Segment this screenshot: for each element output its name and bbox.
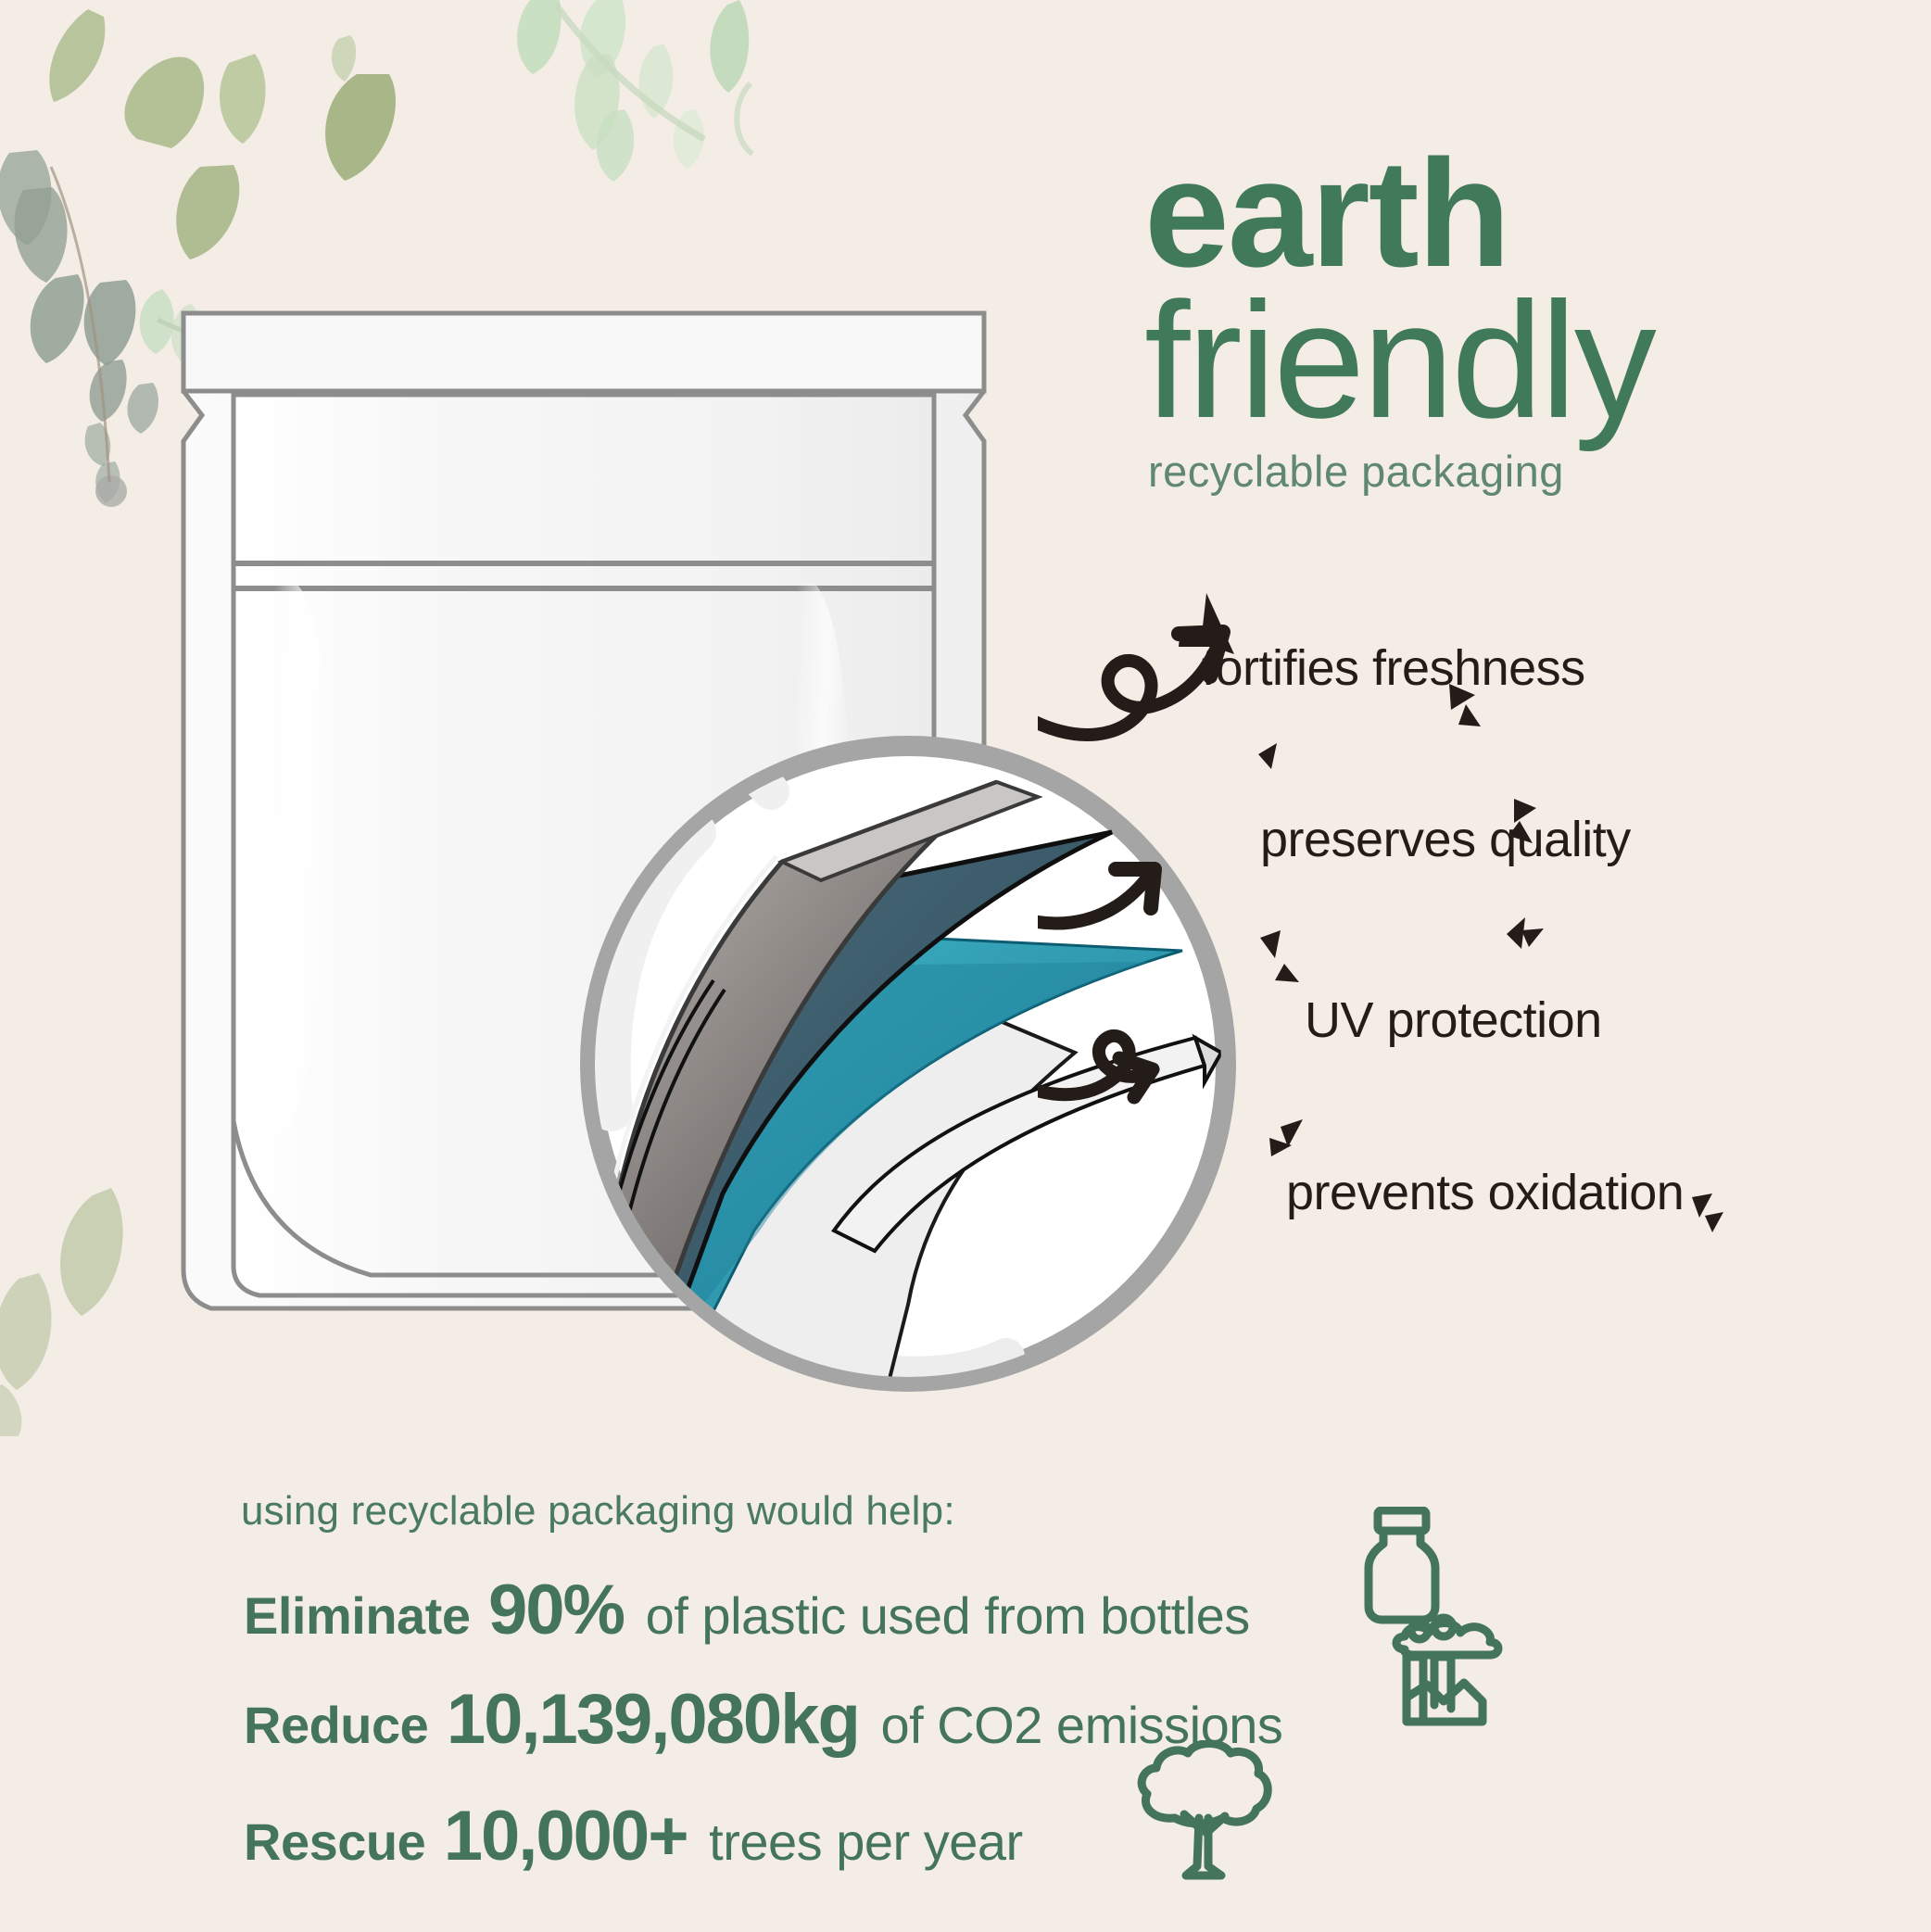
tree-canopy — [1142, 1744, 1268, 1823]
sparkle-10 — [1507, 917, 1525, 949]
stat-verb: Eliminate — [244, 1586, 485, 1645]
stat-verb: Rescue — [244, 1812, 439, 1871]
stats-lead-in: using recyclable packaging would help: — [241, 1488, 955, 1534]
stat-tail: of plastic used from bottles — [646, 1586, 1250, 1645]
sparkle-14 — [1692, 1193, 1712, 1218]
infographic-canvas: earth friendly recyclable packaging fort… — [0, 0, 1931, 1932]
stat-verb: Reduce — [244, 1696, 442, 1754]
stat-tail: trees per year — [709, 1812, 1023, 1871]
sparkle-11 — [1521, 928, 1544, 947]
pouch-top-seal — [183, 313, 984, 391]
stat-row-trees: Rescue 10,000+ trees per year — [244, 1796, 1023, 1876]
page-title-line1: earth — [1144, 144, 1904, 284]
page-title-line2: friendly — [1144, 284, 1904, 436]
sparkle-8 — [1260, 930, 1281, 958]
stat-value: 10,000+ — [444, 1797, 705, 1875]
stat-value: 10,139,080kg — [447, 1680, 877, 1759]
feature-label-uv-protection: UV protection — [1305, 991, 1602, 1049]
curved-arrow-icon-2 — [1038, 880, 1145, 924]
sparkle-15 — [1705, 1212, 1723, 1232]
feature-label-preserves-quality: preserves quality — [1260, 811, 1631, 868]
sparkle-4 — [1458, 704, 1481, 726]
stat-value: 90% — [488, 1571, 641, 1649]
feature-label-prevents-oxidation: prevents oxidation — [1286, 1164, 1684, 1221]
bottle-body — [1369, 1531, 1435, 1620]
sparkle-5 — [1258, 743, 1277, 769]
tree-icon — [1119, 1740, 1295, 1916]
page-subtitle: recyclable packaging — [1148, 446, 1904, 497]
factory-icon — [1386, 1612, 1544, 1751]
stat-row-bottles: Eliminate 90% of plastic used from bottl… — [244, 1570, 1250, 1650]
feature-label-fortifies-freshness: fortifies freshness — [1202, 639, 1585, 697]
header-block: earth friendly recyclable packaging — [1144, 144, 1904, 497]
factory-building — [1407, 1683, 1483, 1722]
sparkle-9 — [1275, 964, 1299, 982]
